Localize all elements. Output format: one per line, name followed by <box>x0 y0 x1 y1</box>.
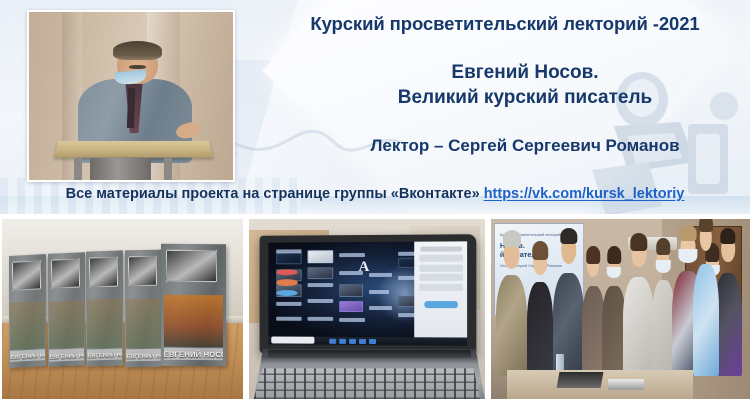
book-cover-photo <box>128 255 157 286</box>
person-hair <box>587 246 601 264</box>
footer-link-strip: Все материалы проекта на странице группы… <box>0 186 750 202</box>
book-volume: ЕВГЕНИЙ НОСОВ <box>125 249 162 367</box>
book-cover-scene <box>11 301 45 350</box>
slide-title-line-1: Евгений Носов. <box>300 60 750 85</box>
laptop-lid: A <box>260 234 477 354</box>
photo-online-conference-laptop: A <box>249 219 485 399</box>
lecturer-hair <box>113 41 162 59</box>
laptop-screen: A <box>268 242 467 347</box>
conference-side-panel[interactable] <box>415 242 468 338</box>
slide-title-line-2: Великий курский писатель <box>300 85 750 110</box>
side-panel-row[interactable] <box>419 255 463 262</box>
photo-book-volumes: ЕВГЕНИЙ НОСОВ ЕВГЕНИЙ НОСОВ ЕВГЕНИЙ НОСО… <box>2 219 243 399</box>
photo-audience-group: Курский просветительский лекторий -2021 … <box>491 219 750 399</box>
book-author-label: ЕВГЕНИЙ НОСОВ <box>126 353 160 360</box>
participant-tile <box>339 285 363 297</box>
laptop-hinge <box>268 350 471 357</box>
person-hair <box>560 228 577 244</box>
participant-name <box>308 317 334 321</box>
book-volume: ЕВГЕНИЙ НОСОВ <box>86 251 123 367</box>
table-books <box>608 379 644 390</box>
participant-tile <box>339 301 363 312</box>
participant-tile <box>308 267 334 279</box>
book-volume: ЕВГЕНИЙ НОСОВ <box>161 244 226 367</box>
person-figure <box>496 275 527 376</box>
taskbar-app-icon[interactable] <box>349 339 356 344</box>
person-hair <box>503 230 521 246</box>
person-figure <box>527 282 553 376</box>
person-figure <box>693 264 719 376</box>
side-panel-action-button[interactable] <box>425 301 459 308</box>
participant-name <box>339 318 365 322</box>
vk-group-link[interactable]: https://vk.com/kursk_lektoriy <box>484 186 685 202</box>
book-cover-scene <box>88 299 122 348</box>
side-panel-row[interactable] <box>419 274 463 281</box>
side-panel-header <box>420 246 462 251</box>
participant-name <box>276 302 301 306</box>
book-volume: ЕВГЕНИЙ НОСОВ <box>48 252 85 367</box>
person-hair <box>532 241 548 260</box>
participant-tile-active-speaker <box>308 251 334 263</box>
person-hair <box>607 246 621 264</box>
person-hair <box>679 225 696 241</box>
lecturer-tie <box>127 87 135 128</box>
person-figure <box>623 277 654 376</box>
side-panel-row[interactable] <box>419 284 463 291</box>
person-hair <box>630 233 647 251</box>
laptop-keyboard <box>254 368 481 399</box>
person-face-mask <box>678 249 697 263</box>
photo-lecturer-at-podium <box>27 10 235 182</box>
book-cover-photo <box>51 258 80 289</box>
person-hair <box>699 219 713 232</box>
book-cover-scene <box>126 298 160 348</box>
person-hair <box>720 228 735 244</box>
taskbar-app-icon[interactable] <box>329 339 336 344</box>
podium-leg-right <box>164 158 172 180</box>
slide-kicker-title: Курский просветительский лекторий -2021 <box>262 13 748 35</box>
participant-name <box>308 299 334 303</box>
podium-stand <box>90 158 151 180</box>
book-author-label: ЕВГЕНИЙ НОСОВ <box>164 350 224 359</box>
book-cover-photo <box>166 250 217 282</box>
taskbar-app-icon[interactable] <box>359 339 366 344</box>
book-cover-scene <box>49 300 83 349</box>
table-papers <box>557 372 604 388</box>
footer-link-prefix: Все материалы проекта на странице группы… <box>66 186 484 202</box>
slide-lecturer-line: Лектор – Сергей Сергеевич Романов <box>300 136 750 156</box>
raise-hand-icon[interactable] <box>276 290 298 296</box>
book-cover-scene <box>164 295 224 347</box>
presentation-slide: Курский просветительский лекторий -2021 … <box>0 0 750 400</box>
book-cover-photo <box>12 260 41 291</box>
side-panel-row[interactable] <box>419 265 463 272</box>
participant-name <box>276 316 301 320</box>
book-volume: ЕВГЕНИЙ НОСОВ <box>9 254 46 368</box>
slide-title-block: Евгений Носов. Великий курский писатель <box>300 60 750 110</box>
camera-off-icon[interactable] <box>276 280 298 286</box>
participant-name <box>369 290 389 294</box>
taskbar-app-icon[interactable] <box>339 339 346 344</box>
podium-desk-top <box>53 141 213 158</box>
person-face-mask <box>607 267 621 279</box>
participant-name <box>369 273 393 277</box>
participant-name <box>369 306 393 310</box>
taskbar-app-icon[interactable] <box>369 339 376 344</box>
person-hair <box>656 238 670 255</box>
participant-tile <box>276 253 301 264</box>
taskbar-search-input[interactable] <box>271 337 314 344</box>
book-cover-photo <box>89 257 118 288</box>
podium-leg-left <box>74 158 82 180</box>
